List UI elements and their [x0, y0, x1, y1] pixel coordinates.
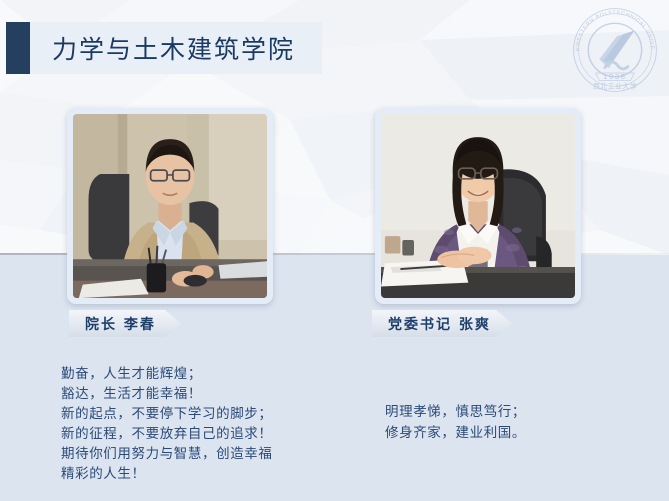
slide-title-bar: 力学与土木建筑学院 — [6, 22, 322, 74]
title-accent-block — [6, 22, 30, 74]
title-box: 力学与土木建筑学院 — [30, 22, 322, 74]
name-tag-dean: 院长 李春 — [69, 310, 181, 337]
photo-party-secretary — [381, 114, 575, 298]
quote-dean: 勤奋，人生才能辉煌； 豁达，生活才能幸福！ 新的起点，不要停下学习的脚步； 新的… — [61, 364, 361, 484]
name-tag-dean-label: 院长 李春 — [85, 314, 156, 334]
page-title: 力学与土木建筑学院 — [52, 30, 295, 66]
svg-text:1938: 1938 — [603, 72, 627, 81]
svg-text:西北工业大学: 西北工业大学 — [593, 82, 637, 91]
name-tag-party-secretary: 党委书记 张爽 — [372, 310, 512, 337]
slide-canvas: 力学与土木建筑学院 NORTHWESTERN POLYTECHNICAL UNI… — [0, 0, 669, 501]
university-seal-logo: NORTHWESTERN POLYTECHNICAL UNIVERSITY 19… — [569, 4, 661, 96]
quote-party-secretary: 明理孝悌，慎思笃行； 修身齐家，建业利国。 — [385, 402, 655, 444]
name-tag-party-secretary-label: 党委书记 张爽 — [388, 314, 491, 334]
photo-frame-dean — [67, 108, 273, 304]
photo-frame-party-secretary — [375, 108, 581, 304]
photo-dean — [73, 114, 267, 298]
